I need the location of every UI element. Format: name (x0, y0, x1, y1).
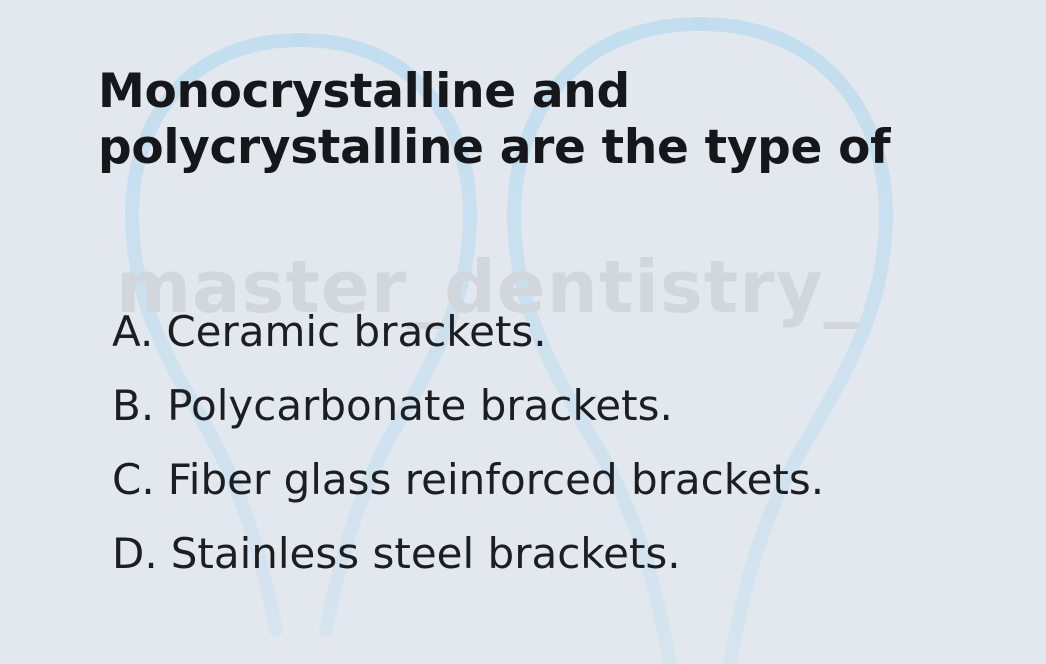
option-text-c: Fiber glass reinforced brackets. (168, 443, 824, 517)
answer-option-a[interactable]: A. Ceramic brackets. (112, 295, 1032, 369)
answer-option-d[interactable]: D. Stainless steel brackets. (112, 517, 1032, 591)
option-letter-d: D. (112, 517, 158, 591)
option-text-b: Polycarbonate brackets. (167, 369, 673, 443)
slide-content: Monocrystalline and polycrystalline are … (0, 0, 1046, 664)
answer-options-list: A. Ceramic brackets. B. Polycarbonate br… (112, 295, 1032, 591)
option-letter-c: C. (112, 443, 155, 517)
question-title: Monocrystalline and polycrystalline are … (98, 64, 1038, 177)
option-text-d: Stainless steel brackets. (171, 517, 681, 591)
option-text-a: Ceramic brackets. (166, 295, 546, 369)
answer-option-c[interactable]: C. Fiber glass reinforced brackets. (112, 443, 1032, 517)
question-slide: master_dentistry_ Monocrystalline and po… (0, 0, 1046, 664)
question-title-line-1: Monocrystalline and (98, 64, 1038, 120)
answer-option-b[interactable]: B. Polycarbonate brackets. (112, 369, 1032, 443)
option-letter-a: A. (112, 295, 153, 369)
option-letter-b: B. (112, 369, 154, 443)
question-title-line-2: polycrystalline are the type of (98, 120, 1038, 176)
